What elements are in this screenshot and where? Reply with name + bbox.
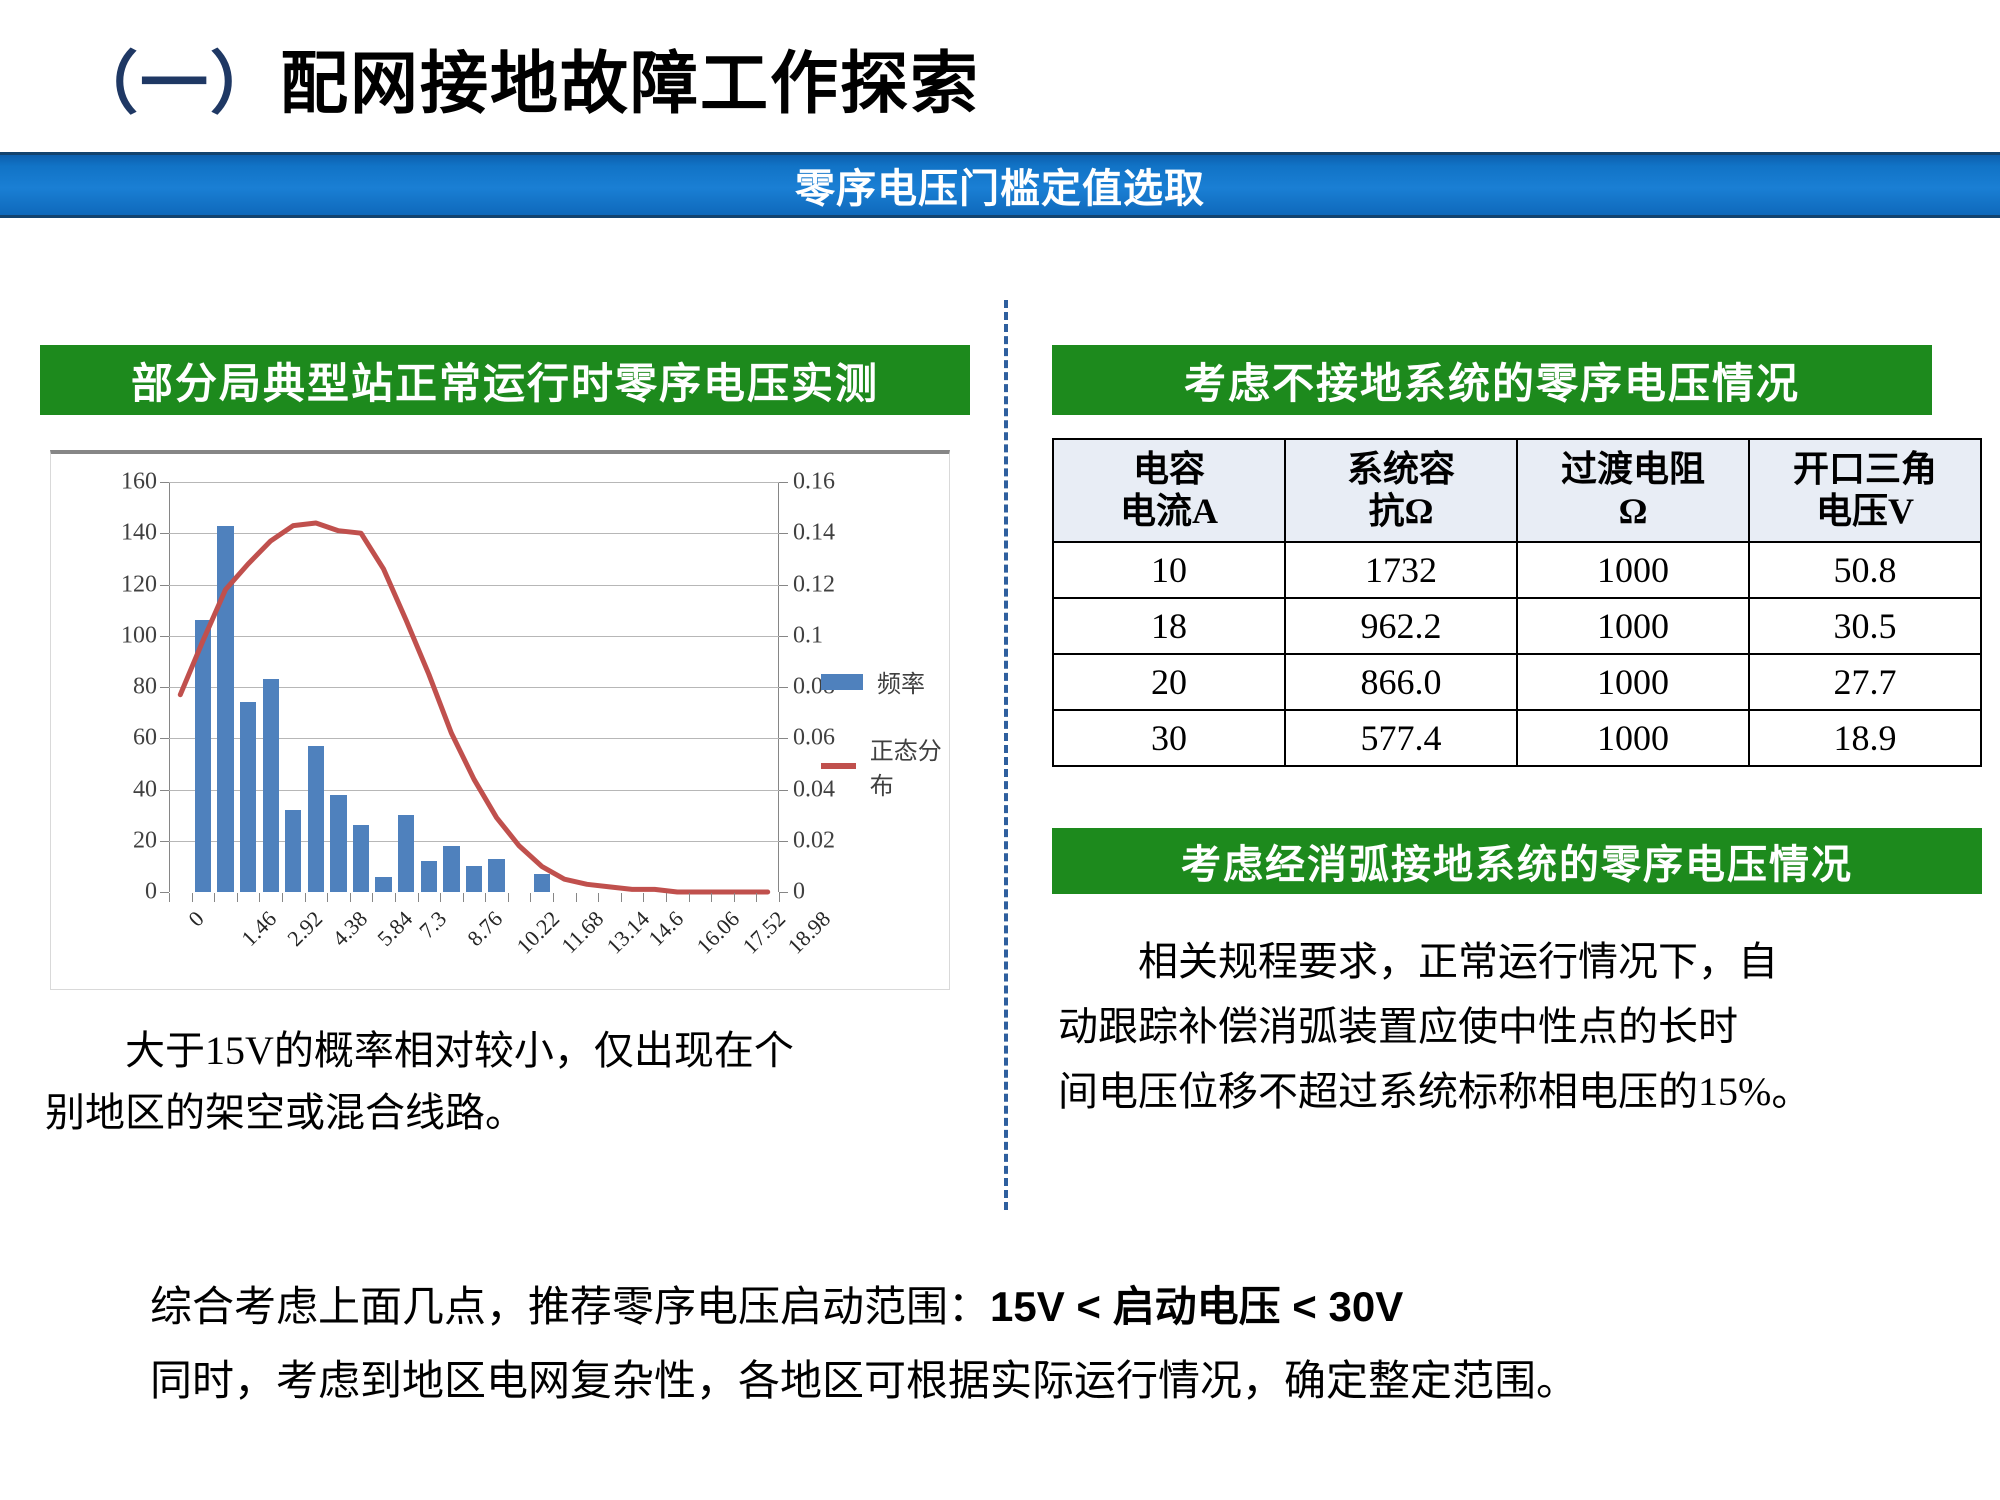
table-cell: 27.7 [1749,654,1981,710]
histogram-chart: 02040608010012014016000.020.040.060.080.… [50,450,950,990]
table-cell: 1000 [1517,598,1749,654]
x-axis-tick-mark [305,893,306,902]
conclusion-line-1-emphasis: 15V < 启动电压 < 30V [990,1283,1403,1330]
x-axis-tick-mark [440,893,441,902]
x-axis-tick-mark [530,893,531,902]
table-row: 18962.2100030.5 [1053,598,1981,654]
legend-bar-swatch-icon [821,674,863,690]
x-axis-ticks: 01.462.924.385.847.38.7610.2211.6813.141… [169,892,779,902]
x-axis-tick-label: 5.84 [372,906,418,952]
x-axis-tick-label: 1.46 [237,906,283,952]
secondary-y-axis-tick-label: 0 [793,879,805,906]
table-cell: 18 [1053,598,1285,654]
x-axis-tick-mark [734,893,735,902]
left-panel-caption: 大于15V的概率相对较小，仅出现在个 别地区的架空或混合线路。 [45,1020,975,1144]
line-series-normal-distribution [169,482,779,892]
left-caption-line-2: 别地区的架空或混合线路。 [45,1090,525,1135]
y-axis-tick-mark [160,790,169,791]
conclusion-block: 综合考虑上面几点，推荐零序电压启动范围：15V < 启动电压 < 30V 同时，… [150,1270,1910,1419]
left-caption-line-1: 大于15V的概率相对较小，仅出现在个 [125,1028,794,1073]
y-axis-tick-mark [160,687,169,688]
right-panel-header-arcsuppression: 考虑经消弧接地系统的零序电压情况 [1052,828,1982,894]
table-cell: 577.4 [1285,710,1517,766]
table-cell: 10 [1053,542,1285,598]
column-header-transition-resistance: 过渡电阻Ω [1517,439,1749,542]
legend-label-frequency: 频率 [877,664,925,699]
secondary-y-axis-tick-mark [779,790,788,791]
x-axis-tick-label: 18.98 [782,906,835,959]
secondary-y-axis-tick-mark [779,687,788,688]
column-header-open-delta-voltage: 开口三角电压V [1749,439,1981,542]
secondary-y-axis-tick-label: 0.12 [793,571,835,598]
table-cell: 866.0 [1285,654,1517,710]
x-axis-tick-mark [643,893,644,902]
y-axis-tick-label: 100 [121,622,157,649]
x-axis-tick-mark [576,893,577,902]
secondary-y-axis-tick-mark [779,482,788,483]
conclusion-line-1: 综合考虑上面几点，推荐零序电压启动范围：15V < 启动电压 < 30V [150,1270,1910,1346]
x-axis-tick-mark [508,893,509,902]
table-row: 30577.4100018.9 [1053,710,1981,766]
table-row: 101732100050.8 [1053,542,1981,598]
page-title: （一）配网接地故障工作探索 [70,28,980,127]
section-banner-label: 零序电压门槛定值选取 [795,156,1205,214]
table-cell: 30.5 [1749,598,1981,654]
y-axis-tick-label: 80 [133,674,157,701]
zero-sequence-voltage-table: 电容电流A电容电流A 系统容抗Ω 过渡电阻Ω 开口三角电压V 101732100… [1052,438,1982,767]
x-axis-tick-mark [711,893,712,902]
secondary-y-axis-tick-mark [779,533,788,534]
y-axis-tick-label: 120 [121,571,157,598]
x-axis-tick-label: 14.6 [643,906,689,952]
right-paragraph-line-1: 相关规程要求，正常运行情况下，自 [1138,939,1778,984]
x-axis-tick-label: 2.92 [282,906,328,952]
y-axis-tick-mark [160,482,169,483]
y-axis-tick-mark [160,533,169,534]
table-cell: 1000 [1517,542,1749,598]
legend-label-normal: 正态分布 [870,731,949,801]
y-axis-tick-label: 60 [133,725,157,752]
x-axis-tick-mark [418,893,419,902]
table-cell: 1000 [1517,710,1749,766]
y-axis-tick-label: 140 [121,520,157,547]
conclusion-line-2: 同时，考虑到地区电网复杂性，各地区可根据实际运行情况，确定整定范围。 [150,1346,1910,1420]
right-panel-header-ungrounded: 考虑不接地系统的零序电压情况 [1052,345,1932,415]
x-axis-tick-mark [327,893,328,902]
conclusion-line-1-prefix: 综合考虑上面几点，推荐零序电压启动范围： [150,1285,990,1331]
x-axis-tick-mark [237,893,238,902]
x-axis-tick-label: 11.68 [556,906,609,959]
x-axis-tick-mark [372,893,373,902]
x-axis-tick-mark [169,893,170,902]
x-axis-tick-mark [689,893,690,902]
vertical-divider [1004,300,1008,1210]
table-cell: 1732 [1285,542,1517,598]
x-axis-tick-mark [463,893,464,902]
x-axis-tick-mark [485,893,486,902]
y-axis-tick-mark [160,636,169,637]
table-cell: 50.8 [1749,542,1981,598]
table-cell: 18.9 [1749,710,1981,766]
secondary-y-axis-tick-mark [779,738,788,739]
table-cell: 30 [1053,710,1285,766]
x-axis-tick-label: 4.38 [327,906,373,952]
right-panel-paragraph: 相关规程要求，正常运行情况下，自 动跟踪补偿消弧装置应使中性点的长时 间电压位移… [1058,930,1978,1124]
secondary-y-axis-tick-label: 0.1 [793,622,823,649]
legend-item-normal-distribution: 正态分布 [821,731,949,801]
x-axis-tick-mark [598,893,599,902]
left-panel-header: 部分局典型站正常运行时零序电压实测 [40,345,970,415]
table-cell: 20 [1053,654,1285,710]
x-axis-tick-mark [282,893,283,902]
y-axis-tick-label: 40 [133,776,157,803]
section-banner: 零序电压门槛定值选取 [0,152,2000,218]
table-cell: 1000 [1517,654,1749,710]
x-axis-tick-label: 7.3 [414,906,452,944]
right-paragraph-line-2: 动跟踪补偿消弧装置应使中性点的长时 [1058,1004,1738,1049]
x-axis-tick-label: 8.76 [463,906,509,952]
column-header-system-capacitance: 系统容抗Ω [1285,439,1517,542]
x-axis-tick-mark [621,893,622,902]
table-header-row: 电容电流A电容电流A 系统容抗Ω 过渡电阻Ω 开口三角电压V [1053,439,1981,542]
legend-item-frequency: 频率 [821,664,949,699]
x-axis-tick-label: 10.22 [511,906,564,959]
table-row: 20866.0100027.7 [1053,654,1981,710]
x-axis-tick-mark [553,893,554,902]
right-paragraph-line-3: 间电压位移不超过系统标称相电压的15%。 [1058,1069,1811,1114]
x-axis-tick-label: 0 [184,906,210,932]
secondary-y-axis-tick-mark [779,841,788,842]
x-axis-tick-label: 17.52 [737,906,790,959]
y-axis-tick-mark [160,892,169,893]
secondary-y-axis-tick-mark [779,636,788,637]
y-axis-tick-label: 20 [133,827,157,854]
y-axis-tick-mark [160,585,169,586]
y-axis-tick-mark [160,738,169,739]
secondary-y-axis-tick-label: 0.14 [793,520,835,547]
column-header-capacitive-current: 电容电流A电容电流A [1053,439,1285,542]
x-axis-tick-mark [756,893,757,902]
x-axis-tick-mark [192,893,193,902]
page-title-text: 配网接地故障工作探索 [280,46,980,122]
x-axis-tick-mark [214,893,215,902]
y-axis-tick-label: 0 [145,879,157,906]
page-title-number: （一） [70,46,280,122]
table-cell: 962.2 [1285,598,1517,654]
x-axis-tick-mark [350,893,351,902]
secondary-y-axis-tick-mark [779,892,788,893]
x-axis-tick-mark [395,893,396,902]
x-axis-tick-label: 16.06 [692,906,745,959]
x-axis-tick-mark [666,893,667,902]
secondary-y-axis-tick-label: 0.16 [793,469,835,496]
legend-line-swatch-icon [821,763,856,769]
chart-plot-area: 02040608010012014016000.020.040.060.080.… [169,482,779,892]
y-axis-tick-label: 160 [121,469,157,496]
x-axis-tick-mark [779,893,780,902]
x-axis-tick-mark [259,893,260,902]
y-axis-tick-mark [160,841,169,842]
chart-legend: 频率 正态分布 [821,664,949,833]
secondary-y-axis-tick-mark [779,585,788,586]
